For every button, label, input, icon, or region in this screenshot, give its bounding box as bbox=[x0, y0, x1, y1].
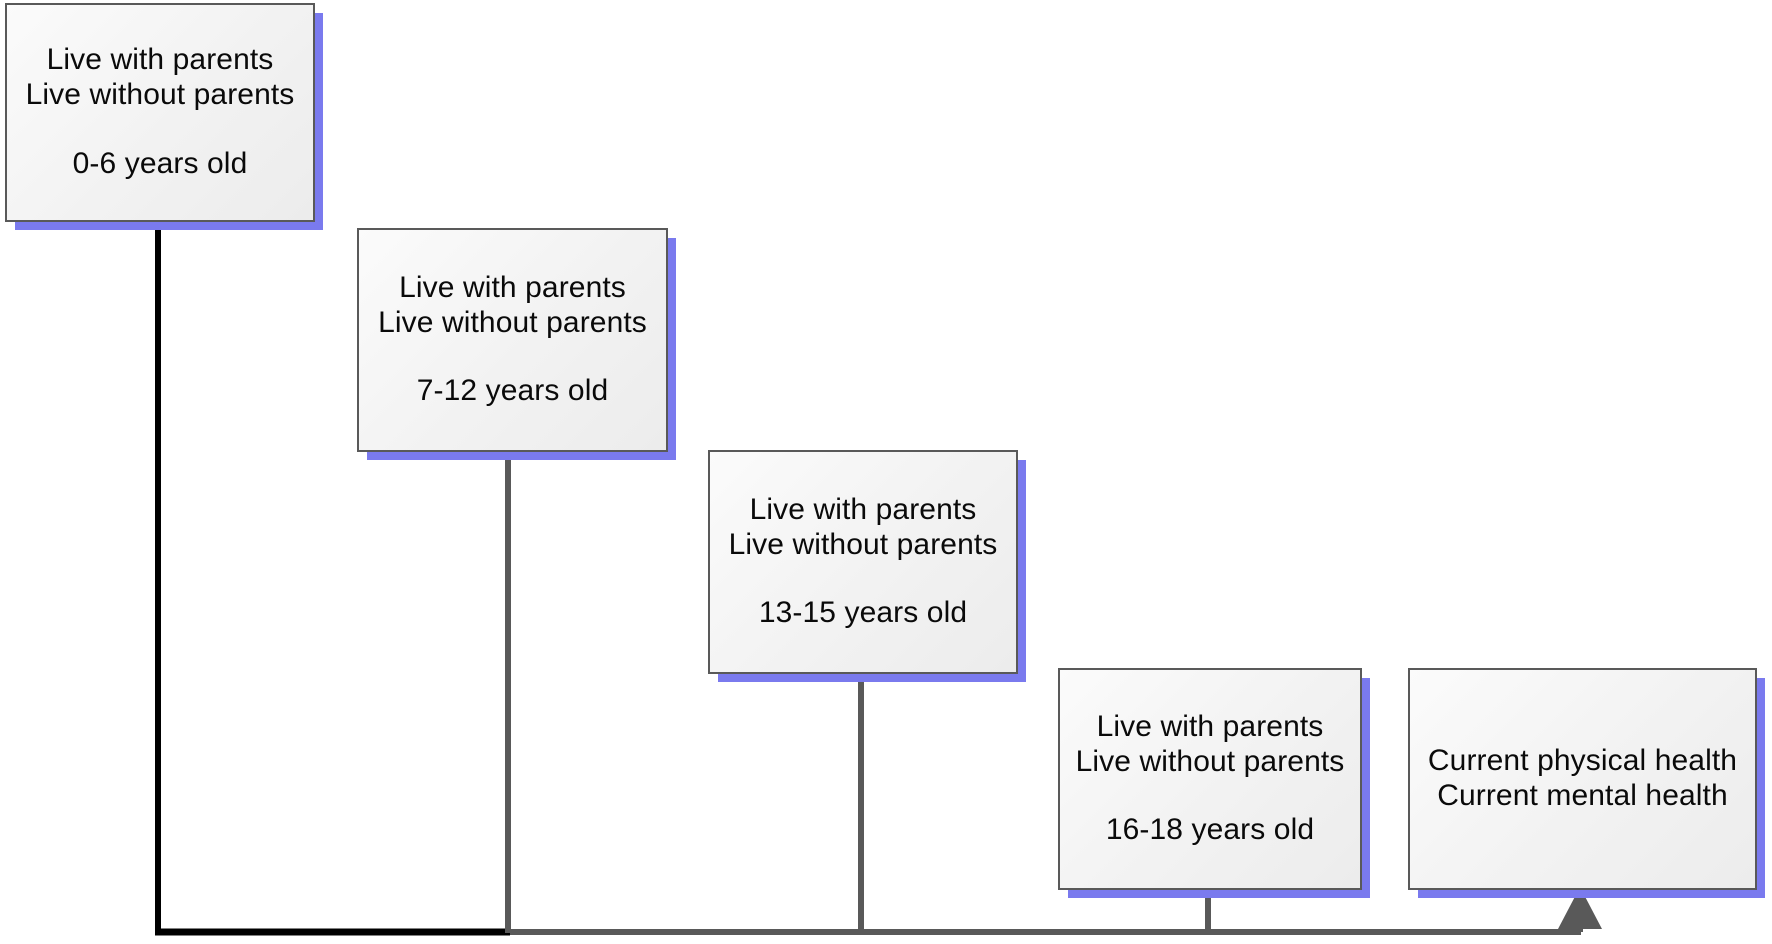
node-line-1: Live with parents bbox=[1076, 710, 1345, 745]
node-line-1: Live with parents bbox=[729, 493, 998, 528]
node-line-2: Live without parents bbox=[26, 78, 295, 113]
node-age-label: 0-6 years old bbox=[26, 147, 295, 182]
node-text-block: Live with parents Live without parents 7… bbox=[378, 271, 647, 409]
node-text-block: Live with parents Live without parents 0… bbox=[26, 43, 295, 181]
node-box-16-18[interactable]: Live with parents Live without parents 1… bbox=[1058, 668, 1362, 890]
node-age-label: 16-18 years old bbox=[1076, 813, 1345, 848]
node-line-1: Live with parents bbox=[378, 271, 647, 306]
node-box-0-6[interactable]: Live with parents Live without parents 0… bbox=[5, 3, 315, 222]
node-text-block: Live with parents Live without parents 1… bbox=[729, 493, 998, 631]
diagram-canvas: Live with parents Live without parents 0… bbox=[0, 0, 1772, 944]
node-age-label: 13-15 years old bbox=[729, 596, 998, 631]
node-spacer bbox=[378, 340, 647, 374]
node-line-2: Live without parents bbox=[729, 528, 998, 563]
node-line-2: Live without parents bbox=[1076, 745, 1345, 780]
node-box-7-12[interactable]: Live with parents Live without parents 7… bbox=[357, 228, 668, 452]
node-box-13-15[interactable]: Live with parents Live without parents 1… bbox=[708, 450, 1018, 674]
node-age-label: 7-12 years old bbox=[378, 374, 647, 409]
arrow-up-icon bbox=[1558, 887, 1602, 929]
node-line-2: Live without parents bbox=[378, 306, 647, 341]
node-line-1: Live with parents bbox=[26, 43, 295, 78]
node-box-current-health[interactable]: Current physical health Current mental h… bbox=[1408, 668, 1757, 890]
node-spacer bbox=[1076, 779, 1345, 813]
node-text-block: Live with parents Live without parents 1… bbox=[1076, 710, 1345, 848]
node-spacer bbox=[26, 113, 295, 147]
node-spacer bbox=[729, 562, 998, 596]
node-line-2: Current mental health bbox=[1428, 779, 1737, 814]
node-text-block: Current physical health Current mental h… bbox=[1428, 744, 1737, 814]
node-line-1: Current physical health bbox=[1428, 744, 1737, 779]
